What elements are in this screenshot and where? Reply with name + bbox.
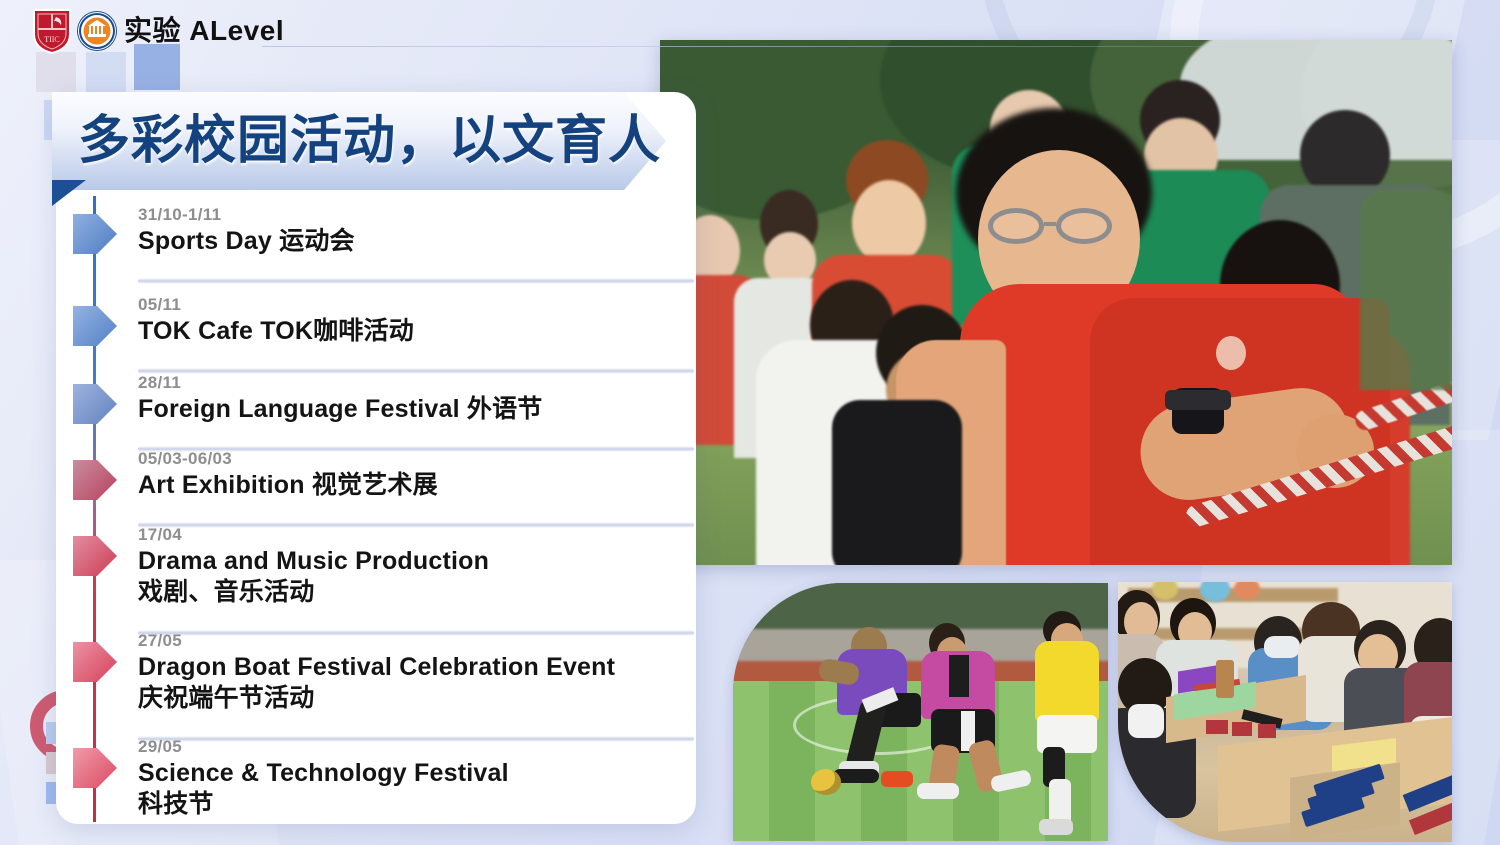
timeline-subtitle: 戏剧、音乐活动 bbox=[138, 577, 694, 608]
timeline-title: Art Exhibition 视觉艺术展 bbox=[138, 470, 694, 501]
timeline-item[interactable]: 05/11 TOK Cafe TOK咖啡活动 bbox=[56, 286, 696, 374]
timeline-date: 05/11 bbox=[138, 294, 694, 316]
school-crest-icon: TIIC bbox=[32, 8, 72, 54]
timeline-date: 28/11 bbox=[138, 372, 694, 394]
timeline-title: TOK Cafe TOK咖啡活动 bbox=[138, 316, 694, 347]
timeline-marker-icon bbox=[73, 748, 117, 788]
title-banner: 多彩校园活动，以文育人 bbox=[52, 92, 666, 190]
page-title: 多彩校园活动，以文育人 bbox=[78, 106, 678, 176]
timeline-item[interactable]: 29/05 Science & Technology Festival 科技节 bbox=[56, 726, 696, 845]
timeline-date: 05/03-06/03 bbox=[138, 448, 694, 470]
timeline-item[interactable]: 28/11 Foreign Language Festival 外语节 bbox=[56, 362, 696, 450]
timeline-title: Dragon Boat Festival Celebration Event bbox=[138, 652, 694, 683]
timeline-date: 27/05 bbox=[138, 630, 694, 652]
timeline-divider bbox=[138, 278, 694, 284]
timeline-date: 31/10-1/11 bbox=[138, 204, 694, 226]
timeline-marker-icon bbox=[73, 214, 117, 254]
timeline-date: 17/04 bbox=[138, 524, 694, 546]
school-seal-icon bbox=[76, 10, 118, 52]
timeline-item[interactable]: 05/03-06/03 Art Exhibition 视觉艺术展 bbox=[56, 438, 696, 526]
activity-timeline: 31/10-1/11 Sports Day 运动会 05/11 TOK Cafe… bbox=[56, 196, 696, 826]
timeline-marker-icon bbox=[73, 642, 117, 682]
timeline-title: Science & Technology Festival bbox=[138, 758, 694, 789]
timeline-item[interactable]: 27/05 Dragon Boat Festival Celebration E… bbox=[56, 620, 696, 740]
timeline-title: Foreign Language Festival 外语节 bbox=[138, 394, 694, 425]
timeline-marker-icon bbox=[73, 306, 117, 346]
timeline-marker-icon bbox=[73, 460, 117, 500]
timeline-title: Drama and Music Production bbox=[138, 546, 694, 577]
timeline-item[interactable]: 17/04 Drama and Music Production 戏剧、音乐活动 bbox=[56, 514, 696, 634]
timeline-subtitle: 庆祝端午节活动 bbox=[138, 683, 694, 714]
timeline-subtitle: 科技节 bbox=[138, 789, 694, 820]
photo-tug-of-war bbox=[660, 40, 1452, 565]
photo-soccer-match bbox=[733, 583, 1108, 841]
timeline-marker-icon bbox=[73, 384, 117, 424]
photo-classroom-workshop bbox=[1118, 582, 1452, 842]
timeline-marker-icon bbox=[73, 536, 117, 576]
svg-text:TIIC: TIIC bbox=[44, 35, 60, 44]
timeline-item[interactable]: 31/10-1/11 Sports Day 运动会 bbox=[56, 196, 696, 284]
page-header: TIIC 实验 ALevel bbox=[0, 0, 1500, 62]
timeline-date: 29/05 bbox=[138, 736, 694, 758]
timeline-title: Sports Day 运动会 bbox=[138, 226, 694, 257]
brand-title: 实验 ALevel bbox=[124, 15, 284, 47]
